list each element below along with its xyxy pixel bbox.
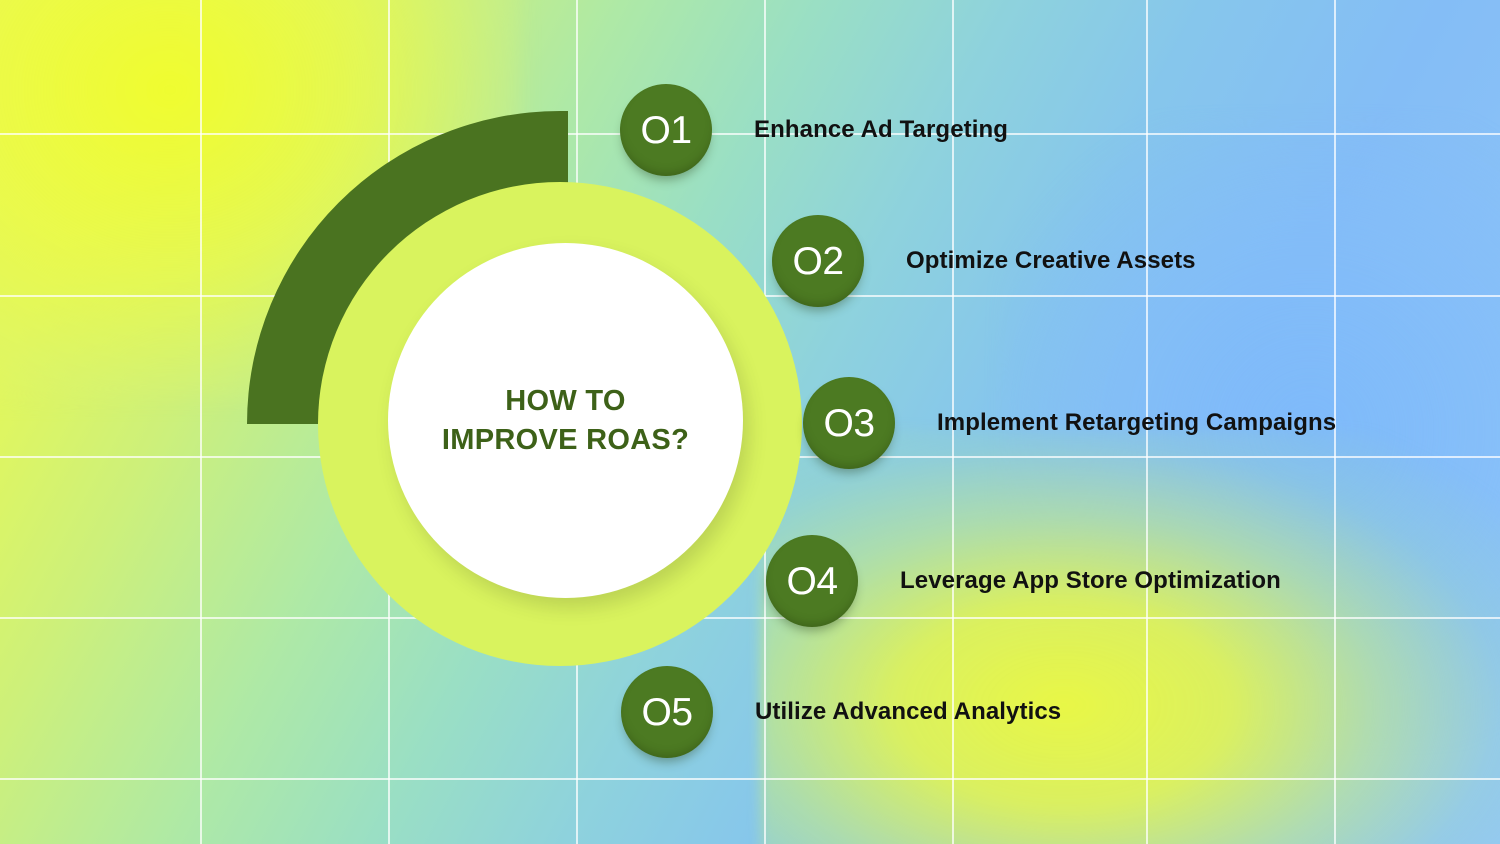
center-title-line-1: HOW TO (442, 382, 689, 421)
step-number-3: O3 (823, 404, 874, 443)
step-label-1: Enhance Ad Targeting (754, 116, 1008, 144)
step-label-5: Utilize Advanced Analytics (755, 698, 1061, 726)
step-number-4: O4 (786, 562, 837, 601)
step-item-4[interactable]: O4 Leverage App Store Optimization (766, 535, 1281, 627)
step-badge-5[interactable]: O5 (621, 666, 713, 758)
center-circle: HOW TO IMPROVE ROAS? (388, 243, 743, 598)
step-badge-4[interactable]: O4 (766, 535, 858, 627)
step-item-2[interactable]: O2 Optimize Creative Assets (772, 215, 1196, 307)
step-label-3: Implement Retargeting Campaigns (937, 409, 1336, 437)
step-label-4: Leverage App Store Optimization (900, 567, 1281, 595)
step-item-5[interactable]: O5 Utilize Advanced Analytics (621, 666, 1061, 758)
step-number-1: O1 (640, 111, 691, 150)
step-badge-2[interactable]: O2 (772, 215, 864, 307)
step-badge-1[interactable]: O1 (620, 84, 712, 176)
step-number-5: O5 (641, 693, 692, 732)
step-number-2: O2 (792, 242, 843, 281)
center-title: HOW TO IMPROVE ROAS? (442, 382, 689, 459)
step-label-2: Optimize Creative Assets (906, 247, 1196, 275)
step-item-1[interactable]: O1 Enhance Ad Targeting (620, 84, 1008, 176)
center-title-line-2: IMPROVE ROAS? (442, 421, 689, 460)
step-badge-3[interactable]: O3 (803, 377, 895, 469)
infographic-canvas: HOW TO IMPROVE ROAS? O1 Enhance Ad Targe… (0, 0, 1500, 844)
step-item-3[interactable]: O3 Implement Retargeting Campaigns (803, 377, 1336, 469)
